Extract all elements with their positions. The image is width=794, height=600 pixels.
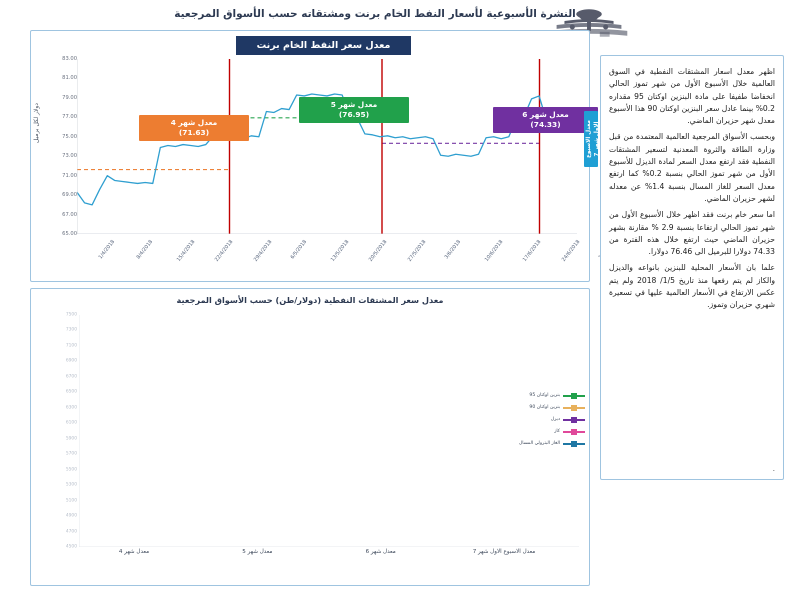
annotation-week-1-month-7: معدل الاسبوع الاول شهر 7 (76.46) xyxy=(584,111,598,167)
derivatives-ytick: 6500 xyxy=(66,390,77,395)
brent-xtick: 10/6/2018 xyxy=(483,239,504,263)
legend-item[interactable]: ديزل xyxy=(479,417,585,422)
legend-label: كاز xyxy=(554,429,560,434)
report-footer-mark: . xyxy=(773,465,775,473)
derivatives-ytick: 6700 xyxy=(66,374,77,379)
derivatives-xaxis-categories: معدل شهر 4معدل شهر 5معدل شهر 6معدل الاسب… xyxy=(79,547,579,565)
brent-ytick: 73.00 xyxy=(62,153,77,159)
brent-xaxis-ticks: 1/4/20188/4/201815/4/201822/4/201829/4/2… xyxy=(77,237,577,285)
annotation-month-5: معدل شهر 5 (76.95) xyxy=(299,97,409,123)
derivatives-chart-title: معدل سعر المشتقات النفطية (دولار/طن) حسب… xyxy=(31,295,589,305)
derivatives-ytick: 4500 xyxy=(66,545,77,550)
legend-item[interactable]: بنزين اوكتان 90 xyxy=(479,405,585,410)
derivatives-category-label: معدل الاسبوع الاول شهر 7 xyxy=(473,549,536,555)
report-paragraph: اما سعر خام برنت فقد اظهر خلال الأسبوع ا… xyxy=(609,209,775,258)
brent-xtick: 15/4/2018 xyxy=(176,239,197,263)
derivatives-ytick: 5700 xyxy=(66,452,77,457)
derivatives-ytick: 6300 xyxy=(66,405,77,410)
brent-yaxis-ticks: 83.0081.0079.0077.0075.0073.0071.0069.00… xyxy=(47,53,77,239)
brent-ytick: 75.00 xyxy=(62,134,77,140)
derivatives-category-label: معدل شهر 5 xyxy=(242,549,272,555)
brent-ytick: 83.00 xyxy=(62,56,77,62)
derivatives-ytick: 7100 xyxy=(66,343,77,348)
derivatives-ytick: 7300 xyxy=(66,328,77,333)
brent-xtick: 20/5/2018 xyxy=(368,239,389,263)
legend-label: ديزل xyxy=(551,417,560,422)
legend-swatch-icon xyxy=(563,407,585,409)
derivatives-ytick: 4700 xyxy=(66,529,77,534)
brent-ytick: 69.00 xyxy=(62,192,77,198)
brent-ytick: 77.00 xyxy=(62,114,77,120)
brent-xtick: 6/5/2018 xyxy=(290,239,309,260)
brent-xtick: 17/6/2018 xyxy=(522,239,543,263)
brent-xtick: 3/6/2018 xyxy=(444,239,463,260)
report-paragraphs: اظهر معدل اسعار المشتقات النفطية في السو… xyxy=(601,56,783,322)
annotation-month-6: معدل شهر 6 (74.33) xyxy=(493,107,598,133)
brent-ytick: 71.00 xyxy=(62,173,77,179)
legend-swatch-icon xyxy=(563,419,585,421)
derivatives-ytick: 5300 xyxy=(66,483,77,488)
derivatives-legend: بنزين اوكتان 95بنزين اوكتان 90ديزلكازالغ… xyxy=(479,393,585,453)
brent-price-chart-panel: معدل سعر النفط الخام برنت دولار لكل برمي… xyxy=(30,30,590,282)
brent-xtick: 24/6/2018 xyxy=(560,239,581,263)
legend-item[interactable]: الغاز البترولي المسال xyxy=(479,441,585,446)
brent-xtick: 13/5/2018 xyxy=(330,239,351,263)
legend-label: الغاز البترولي المسال xyxy=(519,441,560,446)
report-paragraph: علما بان الأسعار المحلية للبنزين بانواعه… xyxy=(609,262,775,311)
derivatives-ytick: 5900 xyxy=(66,436,77,441)
brent-xtick: 8/4/2018 xyxy=(136,239,155,260)
brent-xtick: 22/4/2018 xyxy=(214,239,235,263)
page-title: النشرة الأسبوعية لأسعار النفط الخام برنت… xyxy=(150,8,600,20)
derivatives-ytick: 6100 xyxy=(66,421,77,426)
legend-swatch-icon xyxy=(563,443,585,445)
brent-plot-area xyxy=(77,59,577,234)
legend-label: بنزين اوكتان 90 xyxy=(529,405,560,410)
legend-swatch-icon xyxy=(563,431,585,433)
brent-ytick: 81.00 xyxy=(62,75,77,81)
brent-xtick: 29/4/2018 xyxy=(253,239,274,263)
annotation-month-4: معدل شهر 4 (71.63) xyxy=(139,115,249,141)
brent-xtick: 27/5/2018 xyxy=(407,239,428,263)
derivatives-price-chart-panel: معدل سعر المشتقات النفطية (دولار/طن) حسب… xyxy=(30,288,590,586)
derivatives-category-label: معدل شهر 6 xyxy=(366,549,396,555)
derivatives-category-label: معدل شهر 4 xyxy=(119,549,149,555)
derivatives-ytick: 5100 xyxy=(66,498,77,503)
brent-ytick: 79.00 xyxy=(62,95,77,101)
legend-swatch-icon xyxy=(563,395,585,397)
derivatives-ytick: 6900 xyxy=(66,359,77,364)
legend-item[interactable]: بنزين اوكتان 95 xyxy=(479,393,585,398)
brent-yaxis-title: دولار لكل برميل xyxy=(33,103,40,143)
brent-ytick: 65.00 xyxy=(62,231,77,237)
report-paragraph: وبحسب الأسواق المرجعية العالمية المعتمدة… xyxy=(609,131,775,205)
brent-ytick: 67.00 xyxy=(62,212,77,218)
brent-xtick: 1/4/2018 xyxy=(98,239,117,260)
legend-item[interactable]: كاز xyxy=(479,429,585,434)
legend-label: بنزين اوكتان 95 xyxy=(529,393,560,398)
page-root: النشرة الأسبوعية لأسعار النفط الخام برنت… xyxy=(0,0,794,600)
derivatives-yaxis-ticks: 7500730071006900670065006300610059005700… xyxy=(47,309,77,553)
brent-chart-banner: معدل سعر النفط الخام برنت xyxy=(236,36,411,55)
derivatives-ytick: 4900 xyxy=(66,514,77,519)
derivatives-ytick: 5500 xyxy=(66,467,77,472)
derivatives-ytick: 7500 xyxy=(66,313,77,318)
report-paragraph: اظهر معدل اسعار المشتقات النفطية في السو… xyxy=(609,66,775,127)
report-text-panel: اظهر معدل اسعار المشتقات النفطية في السو… xyxy=(600,55,784,480)
